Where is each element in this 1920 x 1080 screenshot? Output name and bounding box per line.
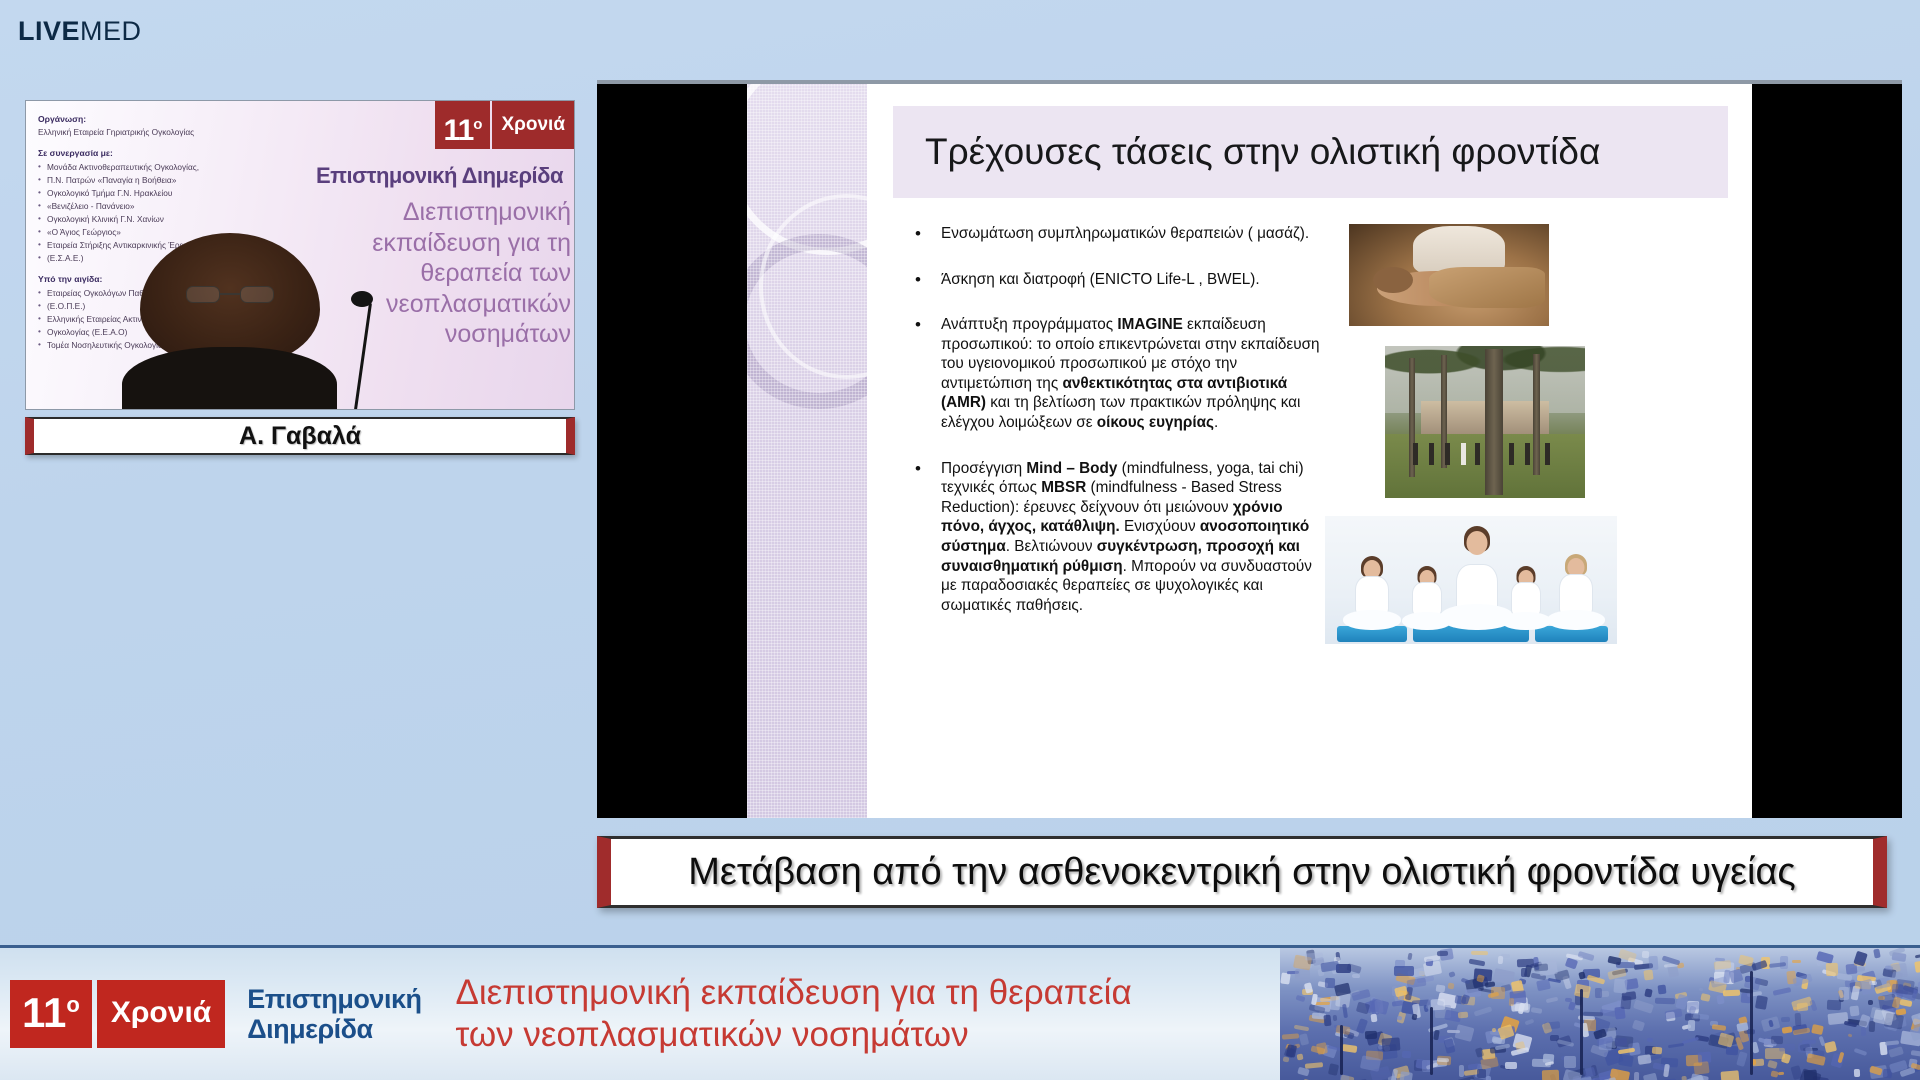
poster-badge-years: Χρονιά [492,101,574,149]
session-caption-bar: Μετάβαση από την ασθενοκεντρική στην ολι… [597,836,1887,908]
artwork-brushstroke [1474,1006,1492,1016]
artwork-brushstroke [1328,1064,1339,1077]
artwork-brushstroke [1644,969,1654,980]
artwork-brushstroke [1458,1011,1469,1017]
artwork-brushstroke [1767,1060,1778,1069]
list-item: «Βενιζέλειο - Πανάνειο» [38,200,283,212]
artwork-brushstroke [1657,985,1666,995]
artwork-brushstroke [1583,1067,1596,1078]
footer-badge-number: 11ο [10,980,92,1048]
artwork-brushstroke [1514,1002,1530,1013]
artwork-brushstroke [1712,1024,1727,1030]
speaker-name-text: Α. Γαβαλά [239,422,361,451]
artwork-brushstroke [1564,1056,1576,1068]
artwork-brushstroke [1391,1001,1402,1007]
artwork-brushstroke [1339,1074,1349,1080]
artwork-brushstroke [1693,1061,1709,1075]
artwork-brushstroke [1282,1033,1299,1039]
slide-body: Τρέχουσες τάσεις στην ολιστική φροντίδα … [867,84,1752,818]
artwork-brushstroke [1797,1002,1808,1011]
artwork-brushstroke [1546,997,1558,1003]
artwork-brushstroke [1475,1047,1484,1057]
artwork-brushstroke [1771,1036,1784,1045]
taichi-photo [1385,346,1585,498]
artwork-brushstroke [1406,978,1426,989]
artwork-brushstroke [1595,988,1602,998]
artwork-brushstroke [1323,1014,1331,1026]
artwork-brushstroke [1824,1041,1837,1053]
artwork-brushstroke [1810,999,1818,1011]
artwork-brushstroke [1508,998,1514,1006]
artwork-brushstroke [1631,1020,1644,1032]
artwork-brushstroke [1839,986,1849,1000]
slide-photo-column [1325,224,1732,641]
artwork-brushstroke [1614,1035,1633,1047]
artwork-brushstroke [1738,954,1753,966]
artwork-brushstroke [1772,987,1790,996]
artwork-brushstroke [1614,979,1628,994]
artwork-brushstroke [1899,999,1912,1007]
artwork-brushstroke [1283,1057,1290,1063]
artwork-brushstroke [1531,1007,1543,1014]
artwork-brushstroke [1586,975,1604,985]
footer-banner: 11ο Χρονιά Επιστημονική Διημερίδα Διεπισ… [0,945,1920,1080]
artwork-brushstroke [1399,1071,1413,1080]
artwork-brushstroke [1850,1005,1860,1016]
artwork-brushstroke [1299,1033,1309,1045]
slide-title-text: Τρέχουσες τάσεις στην ολιστική φροντίδα [925,131,1600,173]
artwork-brushstroke [1352,974,1360,978]
artwork-brushstroke [1533,963,1548,972]
footer-event-name: Επιστημονική Διημερίδα [247,984,421,1044]
artwork-brushstroke [1781,1026,1792,1033]
artwork-brushstroke [1511,1047,1530,1056]
artwork-brushstroke [1665,1008,1683,1019]
presentation-slide[interactable]: Τρέχουσες τάσεις στην ολιστική φροντίδα … [747,84,1752,818]
artwork-brushstroke [1382,1037,1401,1051]
artwork-brushstroke [1778,1071,1784,1074]
artwork-brushstroke [1583,1011,1603,1016]
artwork-brushstroke [1408,952,1413,959]
artwork-brushstroke [1471,951,1488,955]
poster-main-title: Επιστημονική Διημερίδα [316,163,571,189]
session-caption-text: Μετάβαση από την ασθενοκεντρική στην ολι… [688,851,1796,894]
artwork-brushstroke [1794,1013,1801,1027]
artwork-brushstroke [1431,999,1446,1010]
artwork-brushstroke [1778,1043,1795,1051]
artwork-brushstroke [1371,1014,1378,1023]
artwork-brushstroke [1861,1027,1867,1036]
artwork-brushstroke [1644,988,1653,997]
microphone-icon [351,291,393,409]
artwork-brushstroke [1305,1062,1323,1069]
speaker-panel: Οργάνωση: Ελληνική Εταιρεία Γηριατρικής … [25,100,575,455]
footer-event-line2: Διημερίδα [247,1014,421,1044]
slide-decoration-band [747,84,867,818]
artwork-brushstroke [1651,1046,1662,1054]
artwork-brushstroke [1486,1075,1491,1080]
artwork-brushstroke [1910,1050,1920,1056]
artwork-brushstroke [1688,1020,1695,1032]
artwork-brushstroke [1491,987,1505,999]
artwork-brushstroke [1896,979,1916,995]
artwork-brushstroke [1911,1011,1920,1025]
artwork-brushstroke [1720,1071,1739,1080]
footer-subtitle-line1: Διεπιστημονική εκπαίδευση για τη θεραπεί… [456,972,1132,1014]
artwork-brushstroke [1682,1037,1699,1045]
artwork-brushstroke [1280,973,1291,985]
artwork-brushstroke [1325,978,1336,988]
artwork-brushstroke [1755,995,1768,1009]
lamp-post-icon [1580,989,1583,1075]
artwork-brushstroke [1316,1042,1328,1055]
artwork-brushstroke [1869,1021,1876,1032]
artwork-brushstroke [1797,1042,1811,1053]
footer-badge-years: Χρονιά [97,980,225,1048]
list-item: Π.Ν. Πατρών «Παναγία η Βοήθεια» [38,174,283,186]
artwork-brushstroke [1811,1024,1823,1035]
artwork-brushstroke [1649,956,1659,970]
artwork-brushstroke [1848,1033,1853,1038]
artwork-brushstroke [1854,1069,1860,1077]
artwork-brushstroke [1633,1000,1654,1014]
decorative-ring-icon [747,84,867,255]
decorative-ring-icon [747,234,867,409]
artwork-brushstroke [1792,960,1801,963]
artwork-brushstroke [1521,968,1527,977]
artwork-brushstroke [1437,1057,1449,1061]
bullet-item-1: Ενσωμάτωση συμπληρωματικών θεραπειών ( μ… [903,224,1325,244]
artwork-brushstroke [1541,1070,1558,1080]
artwork-brushstroke [1296,1054,1303,1061]
artwork-brushstroke [1770,1070,1778,1078]
artwork-brushstroke [1296,994,1307,1002]
list-item: Μονάδα Ακτινοθεραπευτικής Ογκολογίας, [38,161,283,173]
artwork-brushstroke [1505,1062,1517,1069]
glasses-icon [186,286,274,303]
artwork-brushstroke [1853,1048,1867,1056]
artwork-brushstroke [1723,990,1740,997]
artwork-brushstroke [1878,996,1885,1000]
lamp-post-icon [1430,1007,1433,1075]
artwork-brushstroke [1668,1043,1685,1049]
presentation-stage[interactable]: Τρέχουσες τάσεις στην ολιστική φροντίδα … [597,80,1902,818]
speaker-torso [122,347,337,409]
slide-title-band: Τρέχουσες τάσεις στην ολιστική φροντίδα [893,106,1728,198]
footer-event-subtitle: Διεπιστημονική εκπαίδευση για τη θεραπεί… [456,972,1132,1056]
artwork-brushstroke [1634,1072,1639,1080]
artwork-brushstroke [1827,1000,1841,1011]
artwork-brushstroke [1498,955,1503,963]
poster-anniversary-badge: 11ο Χρονιά [435,101,574,149]
artwork-brushstroke [1868,1000,1874,1005]
artwork-brushstroke [1885,1040,1900,1045]
artwork-brushstroke [1818,1035,1825,1046]
livemed-logo: LIVEMED [18,16,142,47]
artwork-brushstroke [1449,971,1456,978]
poster-badge-number: 11ο [435,101,491,149]
bullet-item-2: Άσκηση και διατροφή (ENICTO Life-L , BWE… [903,270,1325,290]
poster-cooperation-label: Σε συνεργασία με: [38,147,283,159]
artwork-brushstroke [1394,966,1414,976]
artwork-brushstroke [1698,987,1703,991]
artwork-brushstroke [1525,1018,1535,1025]
artwork-brushstroke [1655,997,1675,1003]
artwork-brushstroke [1435,985,1445,993]
yoga-photo [1325,516,1617,644]
massage-photo [1349,224,1549,326]
artwork-brushstroke [1663,1063,1670,1077]
artwork-brushstroke [1565,998,1573,1003]
speaker-video-feed[interactable]: Οργάνωση: Ελληνική Εταιρεία Γηριατρικής … [25,100,575,410]
slide-content-row: Ενσωμάτωση συμπληρωματικών θεραπειών ( μ… [893,224,1732,641]
artwork-brushstroke [1437,950,1448,955]
artwork-brushstroke [1859,979,1874,995]
slide-bullet-list: Ενσωμάτωση συμπληρωματικών θεραπειών ( μ… [893,224,1325,641]
footer-artwork [1280,948,1920,1080]
artwork-brushstroke [1647,1037,1653,1041]
speaker-name-bar: Α. Γαβαλά [25,417,575,455]
footer-event-line1: Επιστημονική [247,984,421,1014]
artwork-brushstroke [1412,1014,1418,1021]
bullet-item-3: Ανάπτυξη προγράμματος IMAGINE εκπαίδευση… [903,315,1325,432]
artwork-brushstroke [1643,1073,1658,1080]
artwork-brushstroke [1825,963,1837,976]
artwork-brushstroke [1915,952,1920,958]
poster-organization-label: Οργάνωση: [38,113,283,125]
artwork-brushstroke [1454,1024,1474,1042]
lamp-post-icon [1340,1025,1343,1075]
artwork-brushstroke [1401,1051,1411,1059]
lamp-post-icon [1750,971,1753,1075]
speaker-figure [122,229,337,409]
logo-live-text: LIVE [18,16,80,47]
bullet-item-4: Προσέγγιση Mind – Body (mindfulness, yog… [903,459,1325,616]
artwork-brushstroke [1459,1065,1464,1077]
list-item: Ογκολογικό Τμήμα Γ.Ν. Ηρακλείου [38,187,283,199]
footer-subtitle-line2: των νεοπλασματικών νοσημάτων [456,1014,1132,1056]
artwork-brushstroke [1365,1031,1377,1039]
artwork-brushstroke [1700,993,1711,1002]
artwork-brushstroke [1294,1024,1309,1031]
artwork-brushstroke [1447,982,1454,989]
artwork-brushstroke [1726,1046,1738,1056]
decorative-ring-icon [759,194,867,379]
poster-organization-value: Ελληνική Εταιρεία Γηριατρικής Ογκολογίας [38,126,283,138]
list-item: Ογκολογική Κλινική Γ.Ν. Χανίων [38,213,283,225]
artwork-brushstroke [1637,1055,1651,1066]
artwork-brushstroke [1468,958,1485,966]
artwork-brushstroke [1333,1015,1338,1022]
artwork-brushstroke [1781,1017,1791,1022]
artwork-brushstroke [1874,949,1882,959]
artwork-brushstroke [1618,1053,1634,1066]
artwork-brushstroke [1607,956,1622,966]
logo-med-text: MED [80,16,142,47]
